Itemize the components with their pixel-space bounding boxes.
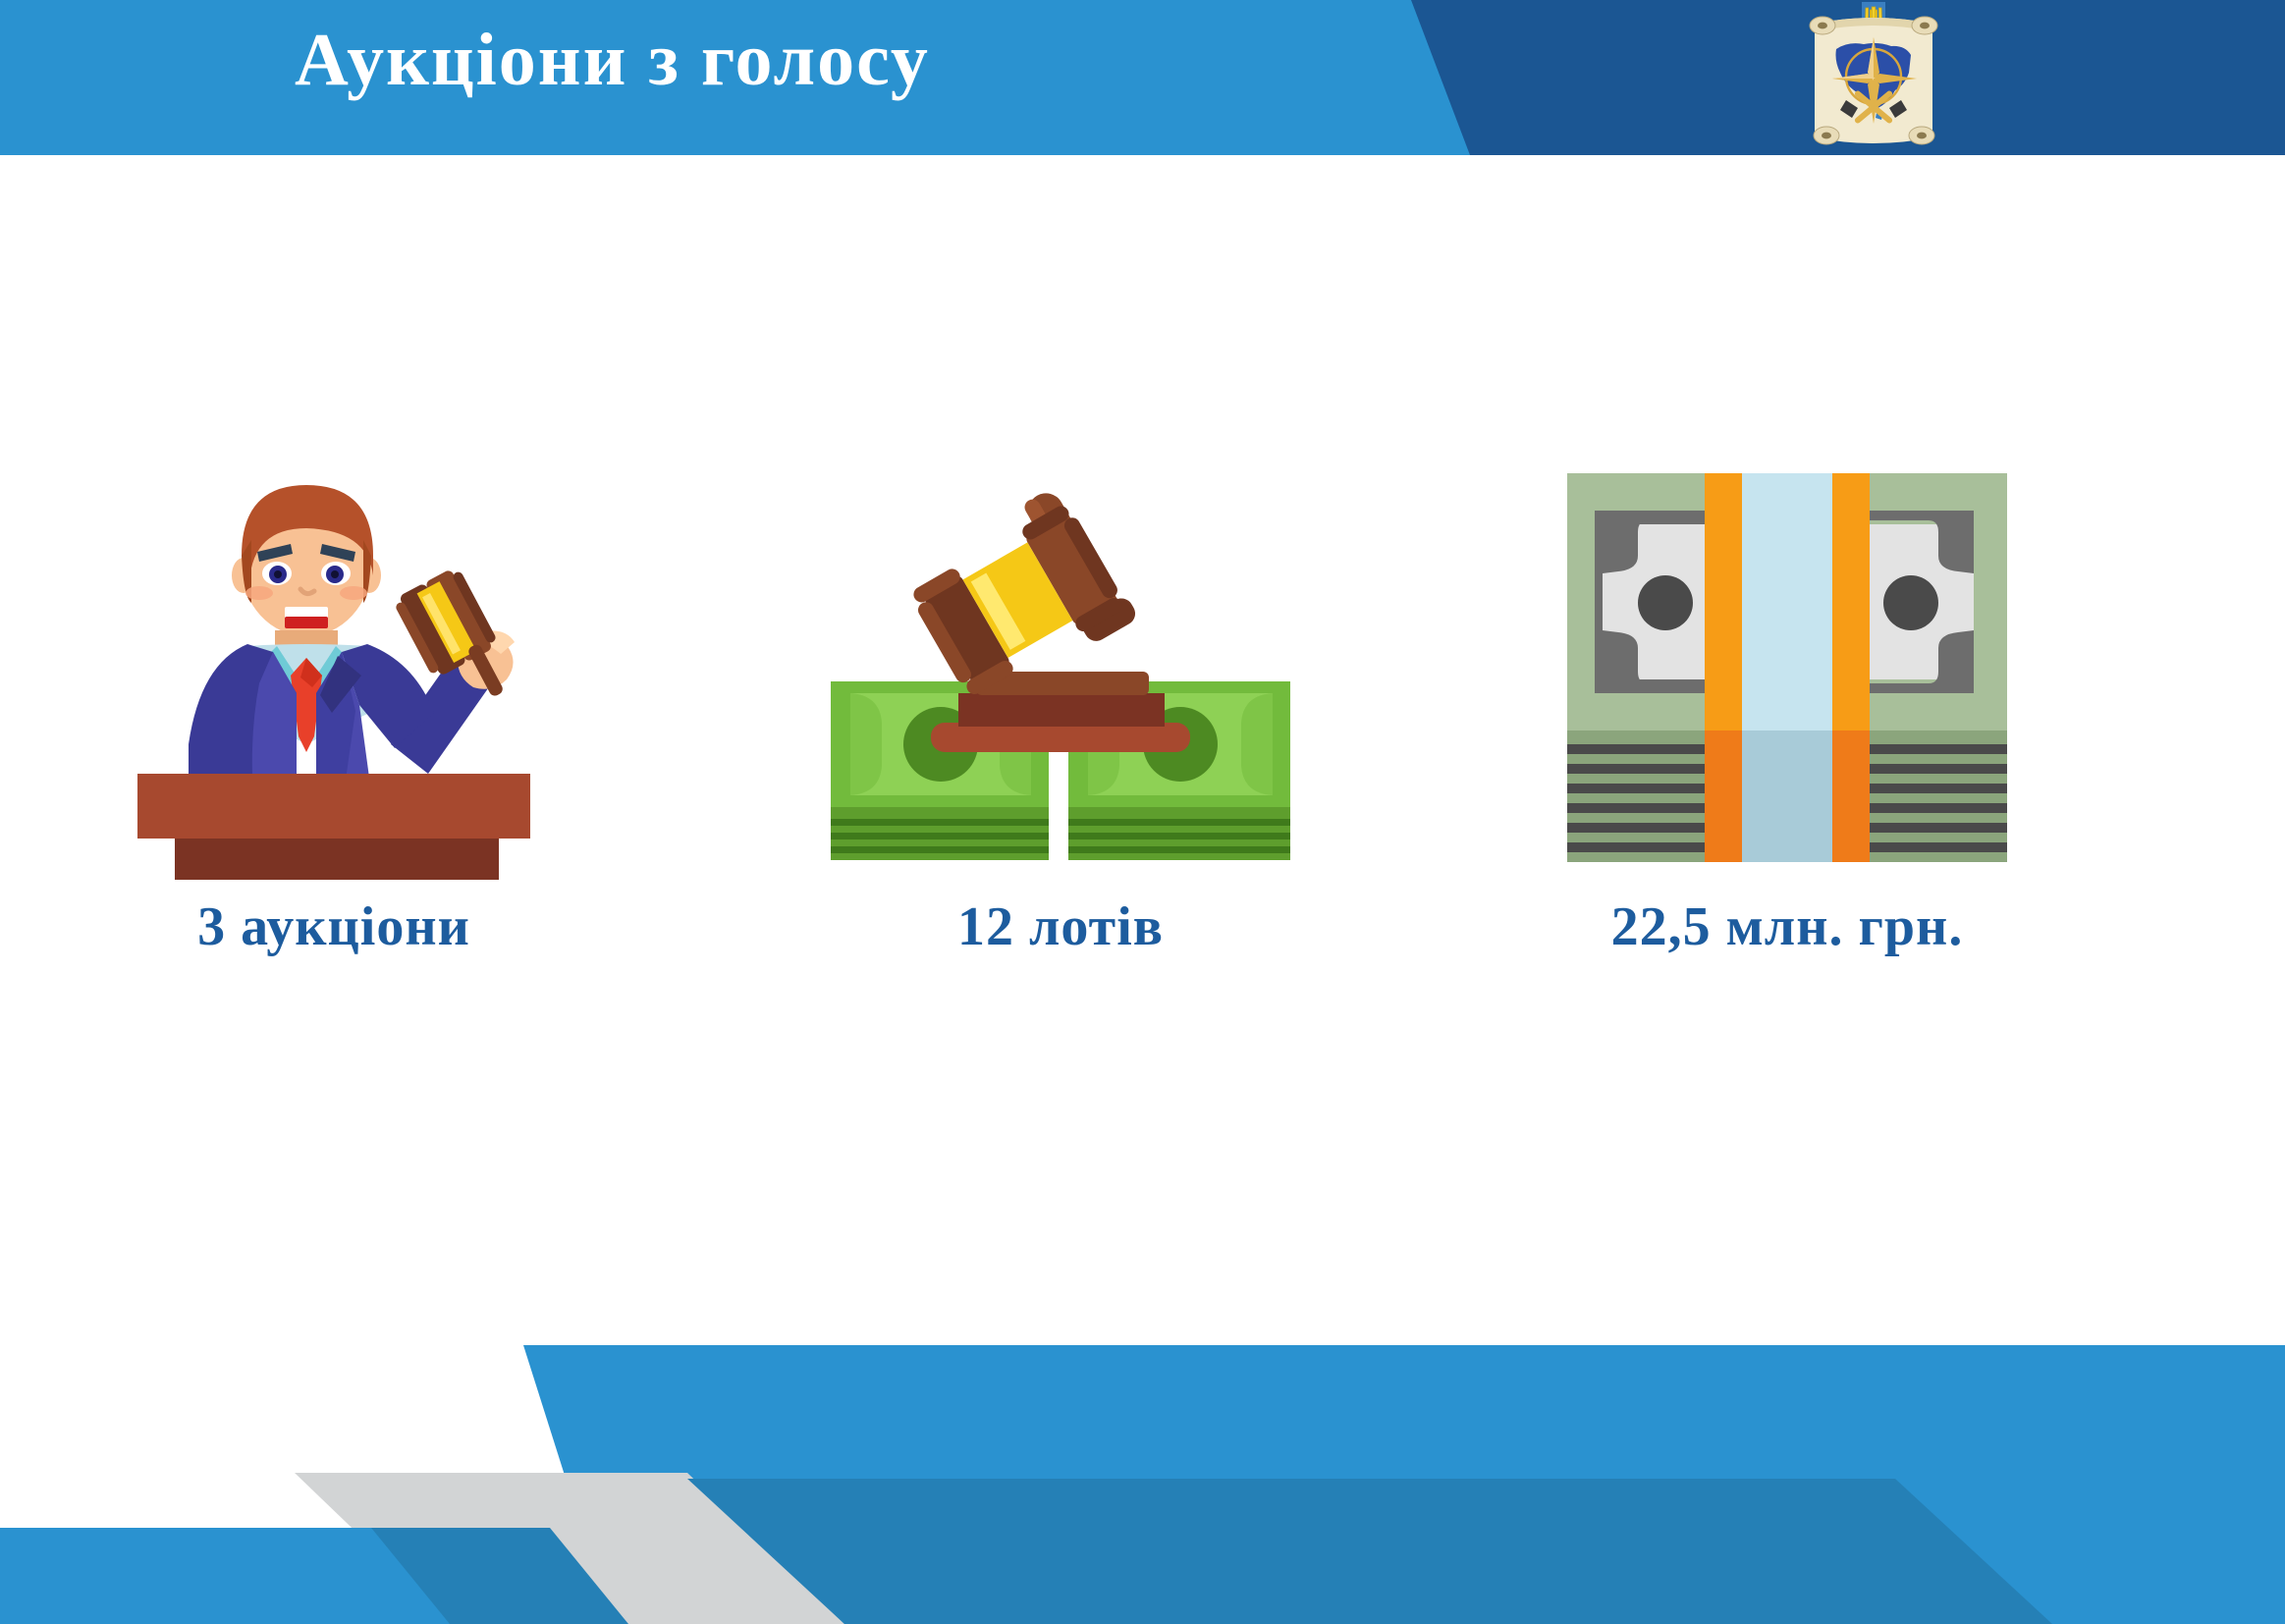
stat-card-amount: 22,5 млн. грн. [1512,430,2062,958]
stats-row: 3 аукціони [0,155,2285,1333]
page-title: Аукціони з голосу [295,14,1375,107]
stat-label-amount: 22,5 млн. грн. [1512,895,2062,958]
money-bundle-icon [1512,430,2062,882]
slide-footer-decoration [0,1345,2285,1624]
stat-label-auctions: 3 аукціони [59,895,609,958]
auctioneer-podium-icon [59,430,609,882]
stat-card-lots: 12 лотів [786,430,1335,958]
stat-card-auctions: 3 аукціони [59,430,609,958]
stat-label-lots: 12 лотів [786,895,1335,958]
ukraine-cadastre-emblem [1785,2,1962,155]
slide-header: Аукціони з голосу [0,0,2285,155]
gavel-on-money-icon [786,430,1335,882]
